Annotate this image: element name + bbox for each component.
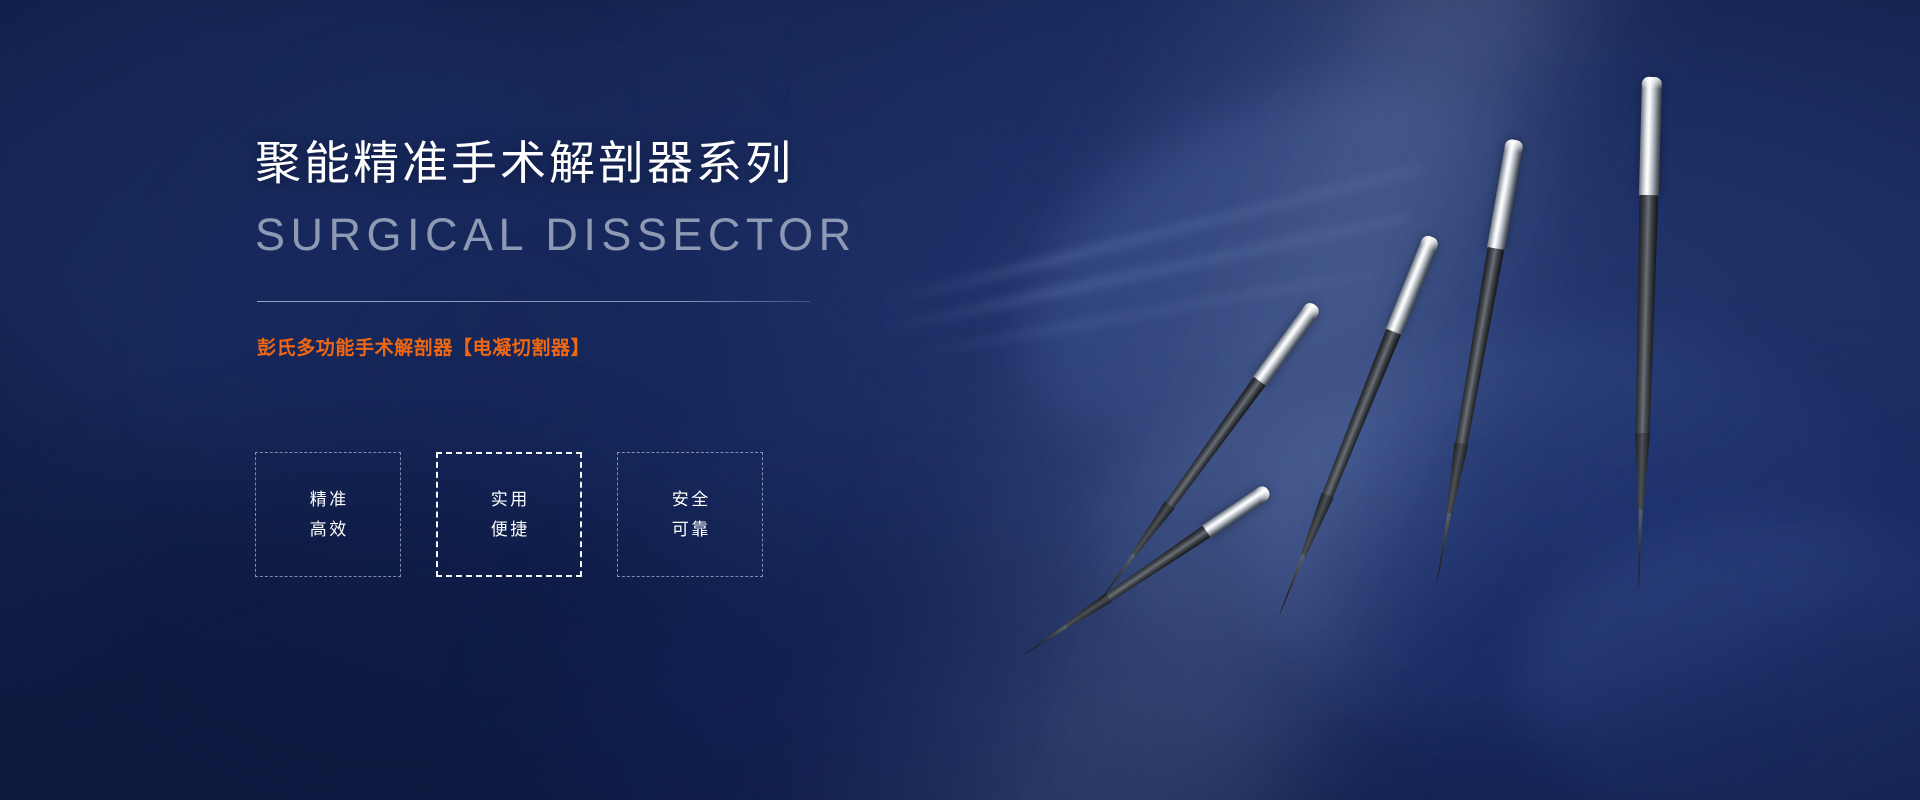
feature-badge-line1: 安全 — [669, 491, 711, 508]
feature-badge-precision[interactable]: 精准 高效 — [255, 452, 401, 577]
feature-badge-line2: 高效 — [307, 521, 349, 538]
feature-badge-line2: 便捷 — [488, 521, 530, 538]
banner-text-block: 聚能精准手术解剖器系列 SURGICAL DISSECTOR 彭氏多功能手术解剖… — [255, 0, 1075, 800]
feature-badge-line2: 可靠 — [669, 521, 711, 538]
page-title: 聚能精准手术解剖器系列 — [255, 140, 794, 186]
feature-badge-line1: 精准 — [307, 491, 349, 508]
feature-badge-practical[interactable]: 实用 便捷 — [436, 452, 582, 577]
product-hero-banner: 聚能精准手术解剖器系列 SURGICAL DISSECTOR 彭氏多功能手术解剖… — [0, 0, 1920, 800]
feature-badge-list: 精准 高效 实用 便捷 安全 可靠 — [255, 452, 763, 577]
page-subtitle-english: SURGICAL DISSECTOR — [255, 212, 857, 257]
divider — [257, 301, 810, 302]
feature-badge-safety[interactable]: 安全 可靠 — [617, 452, 763, 577]
product-name-label: 彭氏多功能手术解剖器【电凝切割器】 — [257, 339, 590, 358]
feature-badge-line1: 实用 — [488, 491, 530, 508]
